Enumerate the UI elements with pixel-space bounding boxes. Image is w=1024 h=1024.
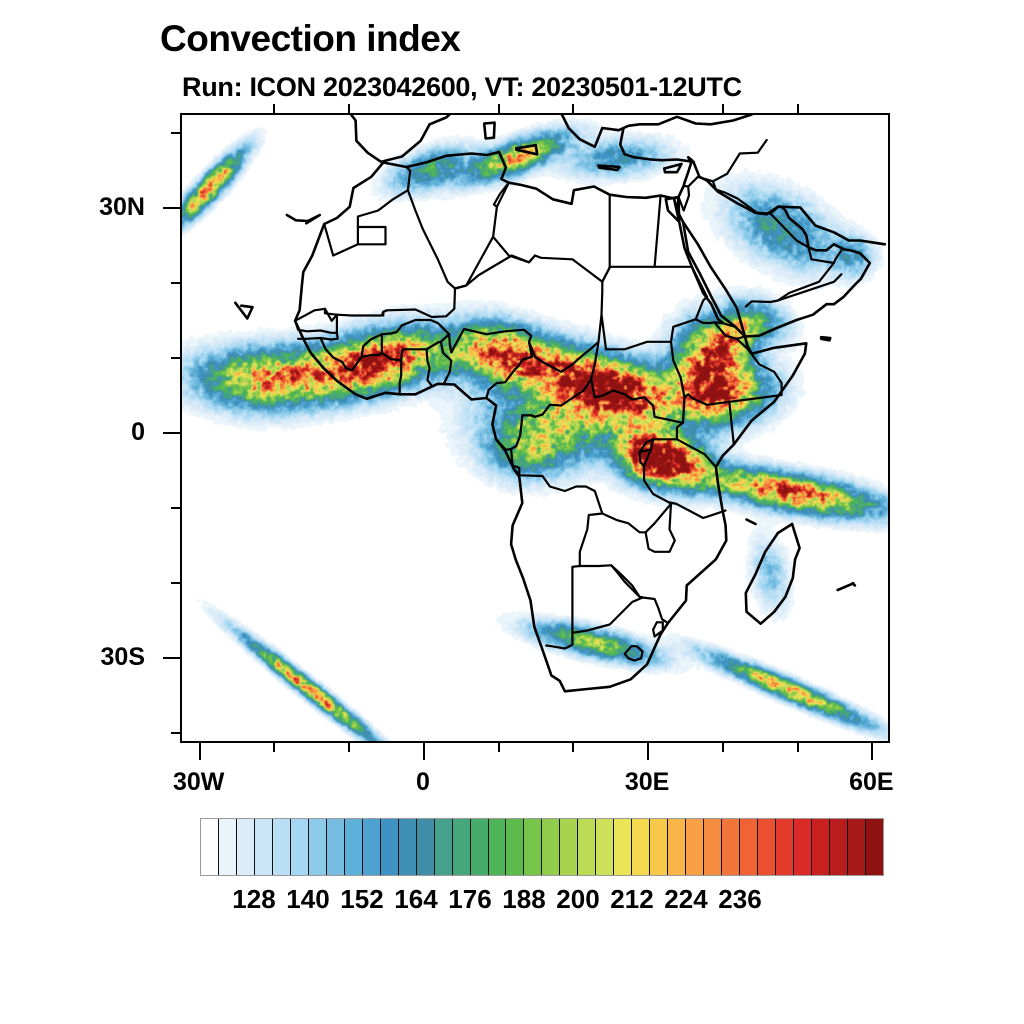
- colorbar-cell[interactable]: [776, 819, 794, 875]
- colorbar-cell[interactable]: [219, 819, 237, 875]
- colorbar-tick-label: 236: [718, 884, 761, 915]
- colorbar-tick-label: 224: [664, 884, 707, 915]
- colorbar-cell[interactable]: [542, 819, 560, 875]
- y-axis-major-tick: [163, 657, 180, 659]
- colorbar-cell[interactable]: [812, 819, 830, 875]
- coastline-mauritius: [853, 583, 855, 585]
- colorbar-cell[interactable]: [704, 819, 722, 875]
- y-axis-minor-tick: [171, 732, 180, 734]
- x-axis-tick-label: 30W: [165, 768, 233, 797]
- colorbar-cell[interactable]: [596, 819, 614, 875]
- colorbar-tick-label: 176: [448, 884, 491, 915]
- colorbar-cell[interactable]: [758, 819, 776, 875]
- x-axis-minor-tick-top: [722, 104, 724, 113]
- x-axis-minor-tick-top: [572, 104, 574, 113]
- colorbar-cell[interactable]: [327, 819, 345, 875]
- colorbar-tick-label: 152: [340, 884, 383, 915]
- colorbar-cell[interactable]: [686, 819, 704, 875]
- colorbar-cell[interactable]: [848, 819, 866, 875]
- colorbar-cell[interactable]: [417, 819, 435, 875]
- x-axis-minor-tick-top: [273, 104, 275, 113]
- colorbar-cell[interactable]: [489, 819, 507, 875]
- y-axis-tick-label: 30N: [50, 193, 145, 222]
- x-axis-minor-tick: [273, 743, 275, 752]
- colorbar-cell[interactable]: [614, 819, 632, 875]
- colorbar-cell[interactable]: [255, 819, 273, 875]
- x-axis-tick-label: 60E: [837, 768, 905, 797]
- y-axis-minor-tick: [171, 357, 180, 359]
- map-canvas: [180, 113, 890, 743]
- colorbar-tick-label: 188: [502, 884, 545, 915]
- coastline-socotra: [821, 337, 830, 340]
- colorbar-tick-label: 212: [610, 884, 653, 915]
- y-axis-minor-tick: [171, 132, 180, 134]
- colorbar-cell[interactable]: [273, 819, 291, 875]
- colorbar-tick-label: 200: [556, 884, 599, 915]
- x-axis-major-tick: [647, 743, 649, 760]
- x-axis-tick-label: 30E: [613, 768, 681, 797]
- colorbar-cell[interactable]: [291, 819, 309, 875]
- colorbar-tick-label: 128: [232, 884, 275, 915]
- colorbar-cell[interactable]: [381, 819, 399, 875]
- x-axis-tick-label: 0: [389, 768, 457, 797]
- colorbar-tick-label: 164: [394, 884, 437, 915]
- colorbar-cell[interactable]: [363, 819, 381, 875]
- colorbar-cell[interactable]: [506, 819, 524, 875]
- y-axis-tick-label: 0: [50, 418, 145, 447]
- colorbar-cell[interactable]: [309, 819, 327, 875]
- run-subtitle: Run: ICON 2023042600, VT: 20230501-12UTC: [182, 72, 742, 103]
- colorbar-cell[interactable]: [740, 819, 758, 875]
- colorbar-cell[interactable]: [650, 819, 668, 875]
- page-title: Convection index: [160, 18, 460, 60]
- colorbar-cell[interactable]: [345, 819, 363, 875]
- y-axis-major-tick: [163, 207, 180, 209]
- x-axis-minor-tick-top: [797, 104, 799, 113]
- colorbar-cell[interactable]: [453, 819, 471, 875]
- colorbar-cell[interactable]: [435, 819, 453, 875]
- colorbar[interactable]: [200, 818, 884, 876]
- x-axis-minor-tick: [498, 743, 500, 752]
- colorbar-cell[interactable]: [722, 819, 740, 875]
- x-axis-minor-tick-top: [498, 104, 500, 113]
- colorbar-cell[interactable]: [524, 819, 542, 875]
- colorbar-cell[interactable]: [471, 819, 489, 875]
- colorbar-cell[interactable]: [866, 819, 883, 875]
- y-axis-minor-tick: [171, 507, 180, 509]
- x-axis-minor-tick-top: [348, 104, 350, 113]
- x-axis-minor-tick: [572, 743, 574, 752]
- colorbar-cell[interactable]: [668, 819, 686, 875]
- y-axis-tick-label: 30S: [50, 643, 145, 672]
- colorbar-cell[interactable]: [399, 819, 417, 875]
- colorbar-cell[interactable]: [560, 819, 578, 875]
- colorbar-cell[interactable]: [632, 819, 650, 875]
- y-axis-minor-tick: [171, 582, 180, 584]
- y-axis-minor-tick: [171, 282, 180, 284]
- colorbar-cell[interactable]: [237, 819, 255, 875]
- x-axis-minor-tick: [722, 743, 724, 752]
- colorbar-cell[interactable]: [830, 819, 848, 875]
- colorbar-cell[interactable]: [578, 819, 596, 875]
- y-axis-major-tick: [163, 432, 180, 434]
- figure-root: Convection index Run: ICON 2023042600, V…: [0, 0, 1024, 1024]
- x-axis-minor-tick: [797, 743, 799, 752]
- x-axis-major-tick: [423, 743, 425, 760]
- x-axis-minor-tick: [348, 743, 350, 752]
- colorbar-tick-label: 140: [286, 884, 329, 915]
- map-plot-area: [180, 113, 890, 743]
- colorbar-cell[interactable]: [201, 819, 219, 875]
- colorbar-cell[interactable]: [794, 819, 812, 875]
- x-axis-major-tick: [871, 743, 873, 760]
- x-axis-major-tick: [199, 743, 201, 760]
